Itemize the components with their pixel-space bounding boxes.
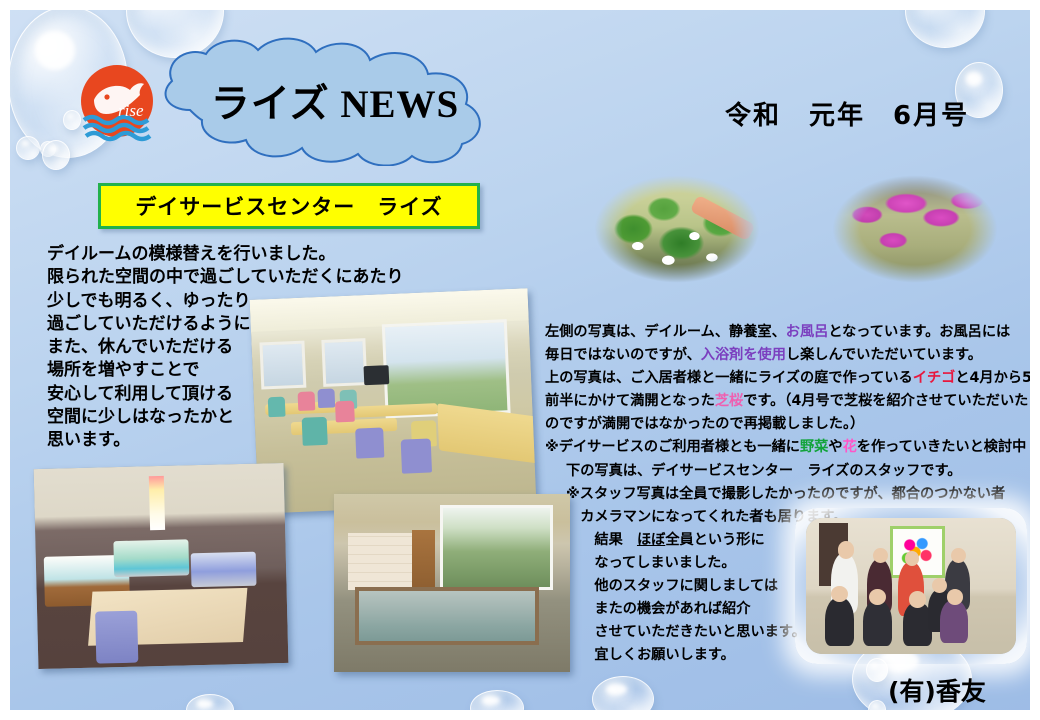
- bubble-decoration: [186, 694, 234, 720]
- staff-hobo-underline: ほぼ: [637, 532, 665, 548]
- photo-dayroom: [250, 288, 537, 513]
- desc-line-4c: です。（4月号で芝桜を紹介させていただいた: [743, 393, 1028, 409]
- staff-line-1: 下の写真は、デイサービスセンター ライズのスタッフです。: [566, 463, 961, 479]
- photo-shibazakura: [806, 158, 1024, 300]
- newsletter-page: ライズ NEWS rise 令和 元年 6月号 デイサービスセンター ライズ: [0, 0, 1040, 720]
- desc-nyuyokuzai-highlight: 入浴剤を使用: [701, 347, 786, 363]
- bubble-decoration: [905, 0, 985, 48]
- photo-bath: [334, 494, 570, 672]
- bubble-decoration: [470, 690, 524, 720]
- desc-line-2a: 毎日ではないのですが、: [545, 347, 701, 363]
- photo-strawberry: [568, 158, 786, 300]
- staff-line-8: させていただきたいと思います。: [566, 624, 806, 640]
- center-name-label: デイサービスセンター ライズ: [135, 191, 442, 221]
- staff-line-7: またの機会があれば紹介: [566, 601, 750, 617]
- staff-line-4a: 結果: [566, 532, 637, 548]
- bubble-decoration: [16, 136, 40, 160]
- desc-line-1c: となっています。お風呂には: [828, 324, 1010, 340]
- bubble-decoration: [42, 140, 70, 170]
- photo-staff: [806, 518, 1016, 654]
- desc-line-5: のですが満開ではなかったので再掲載しました。）: [545, 416, 864, 432]
- issue-date: 令和 元年 6月号: [725, 95, 969, 132]
- center-name-banner: デイサービスセンター ライズ: [98, 183, 480, 229]
- desc-line-1a: 左側の写真は、デイルーム、静養室、: [545, 324, 786, 340]
- desc-line-2c: し楽しんでいただいています。: [786, 347, 982, 363]
- staff-line-2: ※スタッフ写真は全員で撮影したかったのですが、都合のつかない者: [566, 486, 1005, 502]
- page-title: ライズ NEWS: [128, 36, 528, 166]
- desc-ichigo-highlight: イチゴ: [913, 370, 956, 386]
- cloud-title-shape: ライズ NEWS: [128, 36, 528, 166]
- staff-line-6: 他のスタッフに関しましては: [566, 578, 778, 594]
- desc-shibazakura-highlight: 芝桜: [715, 393, 743, 409]
- photo-restroom: [34, 463, 289, 669]
- company-signature: (有)香友: [888, 672, 986, 708]
- svg-text:rise: rise: [118, 101, 144, 120]
- desc-line-3c: と4月から5月: [955, 370, 1040, 386]
- rise-logo: rise: [76, 62, 158, 144]
- staff-line-5: なってしまいました。: [566, 555, 736, 571]
- desc-line-3a: 上の写真は、ご入居者様と一緒にライズの庭で作っている: [545, 370, 913, 386]
- staff-line-9: 宜しくお願いします。: [566, 647, 735, 663]
- desc-line-4a: 前半にかけて満開となった: [545, 393, 715, 409]
- bubble-decoration: [868, 700, 886, 720]
- staff-line-4c: 全員という形に: [665, 532, 764, 548]
- desc-ofuro-highlight: お風呂: [786, 324, 829, 340]
